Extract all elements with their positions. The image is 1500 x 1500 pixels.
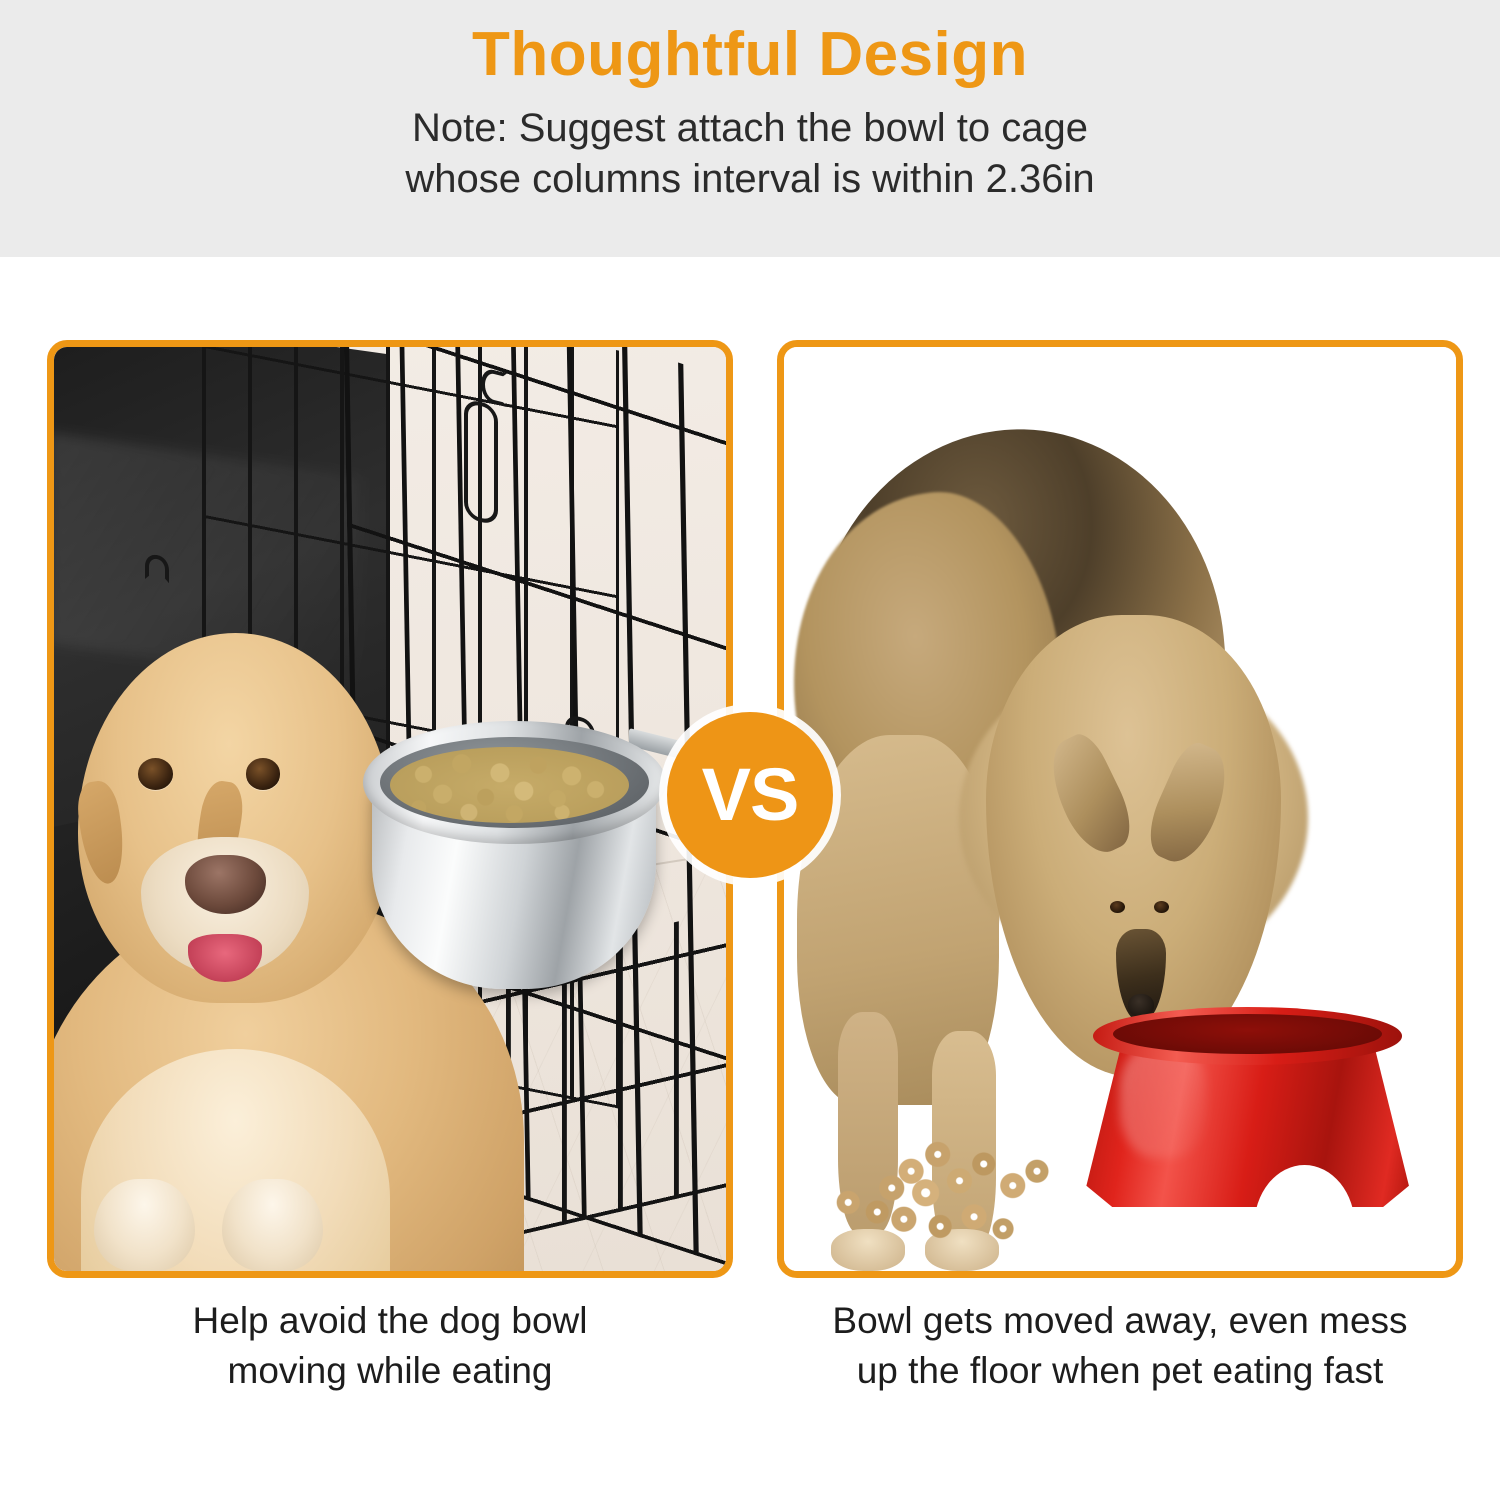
red-bowl-interior	[1113, 1014, 1382, 1054]
scene-small-dog-loose-bowl	[784, 347, 1456, 1271]
golden-retriever-paw-left	[94, 1179, 195, 1271]
caption-left: Help avoid the dog bowl moving while eat…	[47, 1296, 733, 1395]
scene-golden-retriever-caged-bowl	[54, 347, 726, 1271]
stainless-steel-bowl	[363, 721, 665, 989]
header-note-line-2: whose columns interval is within 2.36in	[405, 154, 1094, 205]
golden-retriever-ear-left	[74, 779, 129, 887]
comparison-panel-left	[47, 340, 733, 1278]
red-plastic-bowl	[1080, 1003, 1416, 1225]
small-dog-ear-right	[1138, 737, 1241, 871]
versus-badge-label: VS	[702, 758, 799, 832]
small-dog-ear-left	[1036, 728, 1142, 862]
small-dog-eye-right	[1154, 901, 1169, 913]
header-note-line-1: Note: Suggest attach the bowl to cage	[405, 103, 1094, 154]
spilled-kibble-holes	[824, 1128, 1066, 1248]
golden-retriever-eye-right	[246, 758, 281, 789]
cage-latch-icon	[464, 398, 498, 526]
header-note: Note: Suggest attach the bowl to cage wh…	[405, 103, 1094, 205]
caption-right-line-2: up the floor when pet eating fast	[777, 1346, 1463, 1396]
kibble-in-bowl	[390, 747, 629, 823]
golden-retriever-eye-left	[138, 758, 173, 789]
caption-right: Bowl gets moved away, even mess up the f…	[777, 1296, 1463, 1395]
caption-left-line-2: moving while eating	[47, 1346, 733, 1396]
comparison-panel-right	[777, 340, 1463, 1278]
caption-right-line-1: Bowl gets moved away, even mess	[777, 1296, 1463, 1346]
versus-badge: VS	[667, 712, 833, 878]
golden-retriever-paw-right	[222, 1179, 323, 1271]
header-banner: Thoughtful Design Note: Suggest attach t…	[0, 0, 1500, 257]
caption-left-line-1: Help avoid the dog bowl	[47, 1296, 733, 1346]
small-dog-eye-left	[1110, 901, 1125, 913]
page-title: Thoughtful Design	[472, 18, 1028, 91]
